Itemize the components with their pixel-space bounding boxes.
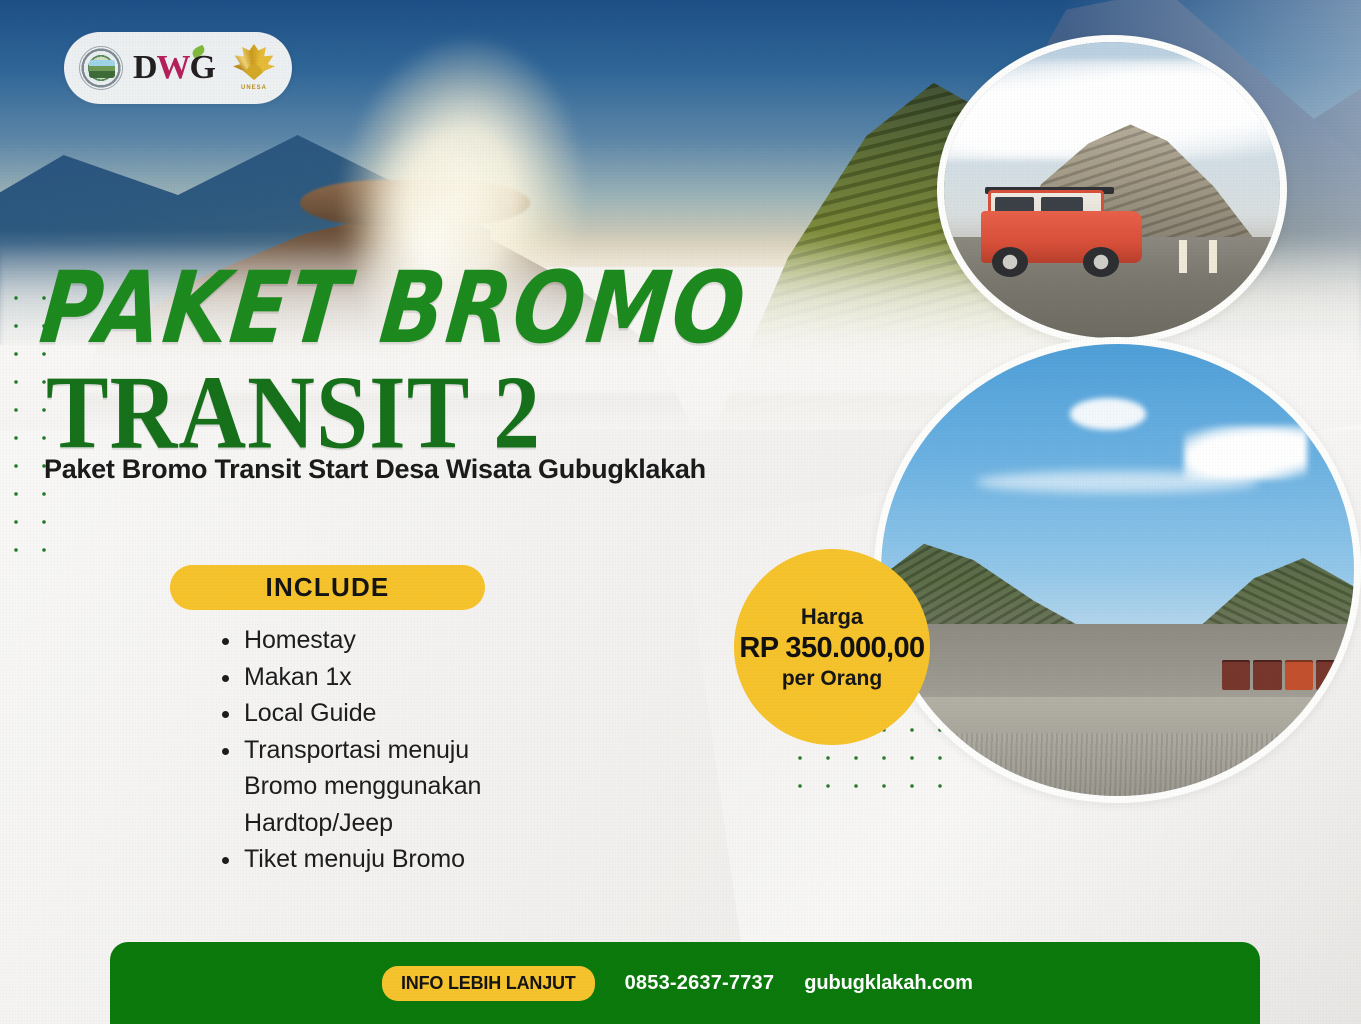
page-subtitle: Paket Bromo Transit Start Desa Wisata Gu… xyxy=(44,454,706,485)
include-list: Homestay Makan 1x Local Guide Transporta… xyxy=(214,622,634,878)
unesa-crown-icon xyxy=(231,44,277,80)
jeep-wheel xyxy=(992,247,1029,277)
price-label: Harga xyxy=(801,604,863,630)
list-item-continuation: Bromo menggunakan xyxy=(214,768,634,805)
jeep-photo-marker-post xyxy=(1179,240,1186,273)
list-item-continuation: Hardtop/Jeep xyxy=(214,805,634,842)
sand-photo-jeep xyxy=(1222,660,1251,689)
contact-footer-bar: INFO LEBIH LANJUT 0853-2637-7737 gubugkl… xyxy=(110,942,1260,1024)
sand-photo-cloud xyxy=(976,471,1260,494)
jeep-wheel xyxy=(1083,247,1120,277)
dwg-letter-w: W xyxy=(157,49,190,86)
price-unit: per Orang xyxy=(782,667,882,691)
info-cta-badge[interactable]: INFO LEBIH LANJUT xyxy=(382,966,595,1001)
title-line-1: PAKET BROMO xyxy=(36,262,751,355)
list-item: Local Guide xyxy=(214,695,634,732)
logo-bar: DWG UNESA xyxy=(64,32,292,104)
desa-wisata-seal-icon xyxy=(79,46,123,90)
sand-photo-jeep xyxy=(1285,660,1314,689)
dwg-letter-d: D xyxy=(133,49,157,86)
sand-photo-cloud xyxy=(1070,398,1146,430)
jeep-at-bromo-photo xyxy=(937,35,1287,345)
sand-photo-jeep xyxy=(1253,660,1282,689)
poster-root: DWG UNESA PAKET BROMO TRANSIT 2 Paket Br… xyxy=(0,0,1361,1024)
include-heading-label: INCLUDE xyxy=(266,572,390,603)
sand-photo-ground-texture xyxy=(881,733,1354,796)
list-item: Transportasi menuju xyxy=(214,732,634,769)
list-item: Homestay xyxy=(214,622,634,659)
jeep-photo-marker-post xyxy=(1209,240,1216,273)
list-item: Tiket menuju Bromo xyxy=(214,841,634,878)
include-heading-badge: INCLUDE xyxy=(170,565,485,610)
price-amount: RP 350.000,00 xyxy=(739,632,924,665)
unesa-label: UNESA xyxy=(241,85,267,91)
sand-photo-jeep xyxy=(1316,660,1345,689)
dwg-wordmark: DWG xyxy=(133,51,221,85)
contact-website[interactable]: gubugklakah.com xyxy=(804,972,973,995)
page-title: PAKET BROMO TRANSIT 2 xyxy=(46,262,751,450)
price-badge: Harga RP 350.000,00 per Orang xyxy=(734,549,930,745)
sand-photo-jeep-row xyxy=(1222,660,1345,689)
jeep-vehicle xyxy=(974,190,1149,279)
sand-photo-cloud xyxy=(1184,425,1307,479)
list-item: Makan 1x xyxy=(214,659,634,696)
contact-phone[interactable]: 0853-2637-7737 xyxy=(625,972,775,995)
sea-of-sand-photo xyxy=(874,337,1361,803)
title-line-2: TRANSIT 2 xyxy=(46,363,765,463)
footer-content: INFO LEBIH LANJUT 0853-2637-7737 gubugkl… xyxy=(382,966,973,1001)
unesa-logo-icon: UNESA xyxy=(231,44,277,92)
